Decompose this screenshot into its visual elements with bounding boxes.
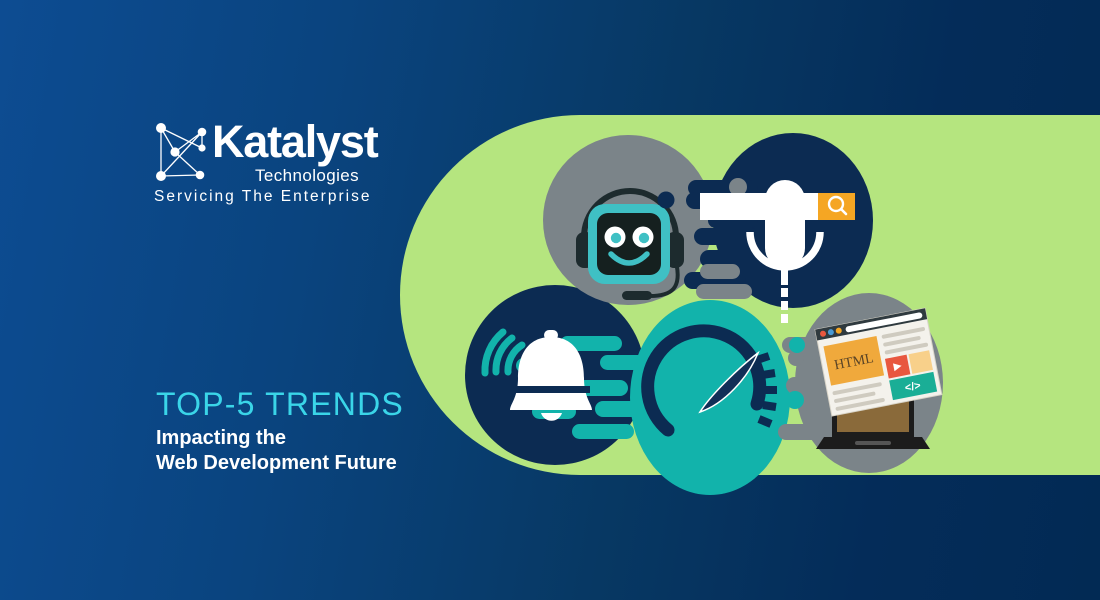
html5-laptop-browser-icon: HTML </> (0, 0, 1100, 600)
banner-root: Katalyst Technologies Servicing The Ente… (0, 0, 1100, 600)
